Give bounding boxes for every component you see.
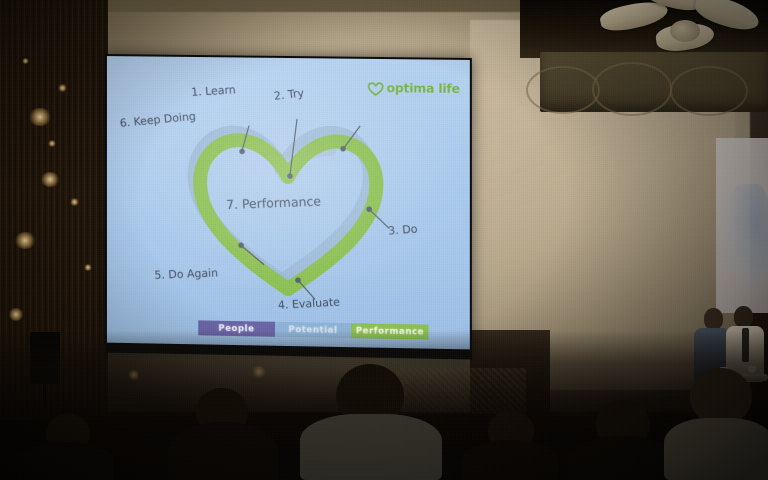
footer-segment-potential: Potential [275,322,352,338]
wall-panel [396,368,526,414]
step-label-2-try: 2. Try [273,88,304,102]
ceiling-fan-icon [600,0,768,56]
conference-photo-scene: optima life [0,0,768,480]
ceiling-medallion-icon [526,66,600,114]
projection-screen: optima life [105,54,472,359]
footer-segment-people: People [198,320,274,336]
optima-life-logo: optima life [367,81,459,97]
presentation-slide: optima life [107,56,470,349]
step-label-4-evaluate: 4. Evaluate [278,297,341,311]
secondary-screen-figure [724,184,768,294]
pa-speaker [30,332,60,384]
speaker-stand [43,382,46,408]
ceiling-medallion-icon [592,62,672,116]
ceiling-beam [540,52,768,112]
slide-footer-bar: People Potential Performance [198,320,428,339]
secondary-screen [716,138,768,313]
stage-presenters [690,302,768,407]
heart-icon [367,81,384,96]
wall-sconce-light [128,370,140,380]
step-label-5-do-again: 5. Do Again [154,268,218,281]
footer-segment-performance: Performance [351,323,428,339]
step-label-3-do: 3. Do [388,223,418,236]
side-table [708,374,768,381]
step-label-1-learn: 1. Learn [191,84,236,98]
wall-sconce-light [252,366,266,378]
logo-text: optima life [386,82,459,95]
ceiling-medallion-icon [670,66,748,116]
